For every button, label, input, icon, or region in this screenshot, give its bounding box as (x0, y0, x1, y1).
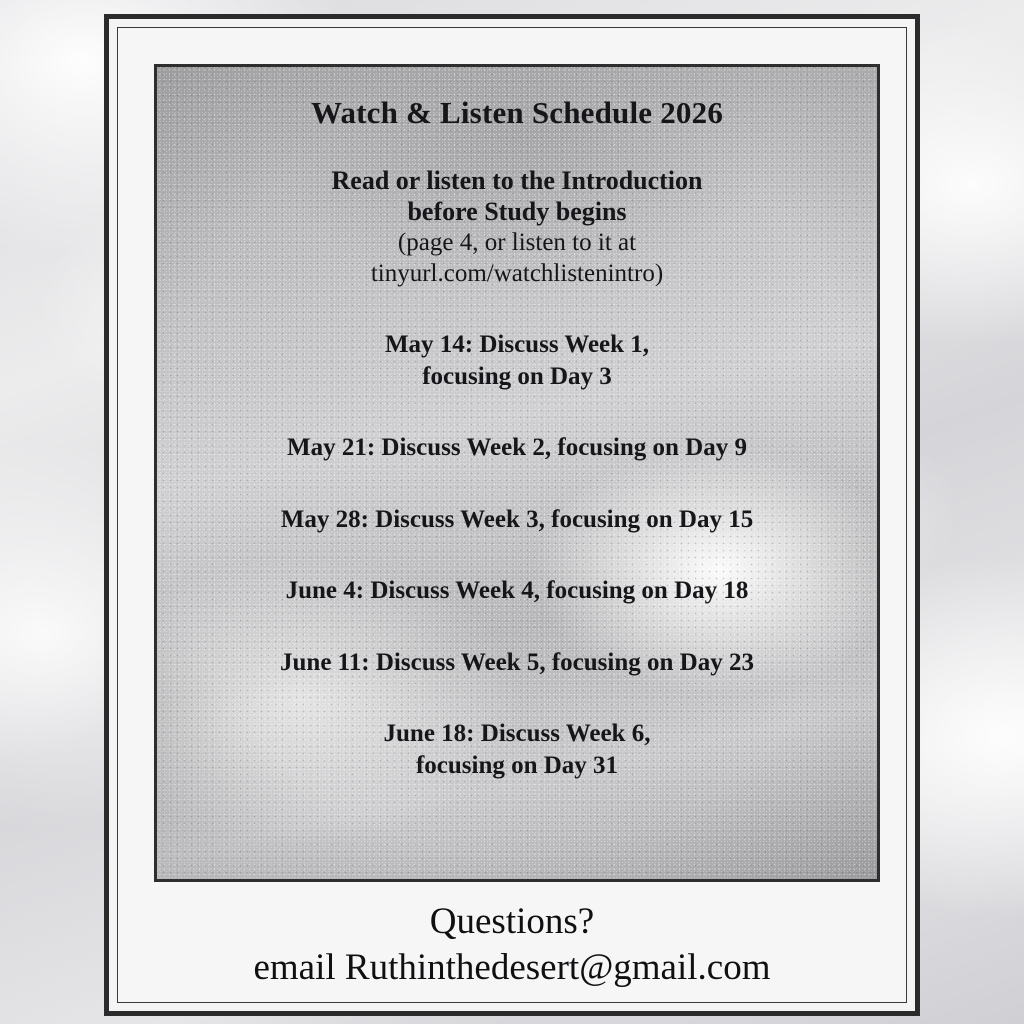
schedule-entry-line-1: June 18: Discuss Week 6, (183, 718, 851, 750)
intro-instructions: Read or listen to the Introduction befor… (183, 165, 851, 289)
intro-line-2: before Study begins (183, 196, 851, 228)
schedule-entry: May 14: Discuss Week 1, focusing on Day … (183, 329, 851, 392)
schedule-entry-line-2: focusing on Day 31 (183, 750, 851, 782)
schedule-entry-line-1: June 4: Discuss Week 4, focusing on Day … (183, 575, 851, 607)
schedule-entry: June 4: Discuss Week 4, focusing on Day … (183, 575, 851, 607)
poster-frame: Watch & Listen Schedule 2026 Read or lis… (104, 14, 920, 1016)
schedule-entry: May 21: Discuss Week 2, focusing on Day … (183, 432, 851, 464)
poster-background: Watch & Listen Schedule 2026 Read or lis… (0, 0, 1024, 1024)
poster-footer: Questions? email Ruthinthedesert@gmail.c… (118, 900, 906, 990)
schedule-entry: June 18: Discuss Week 6, focusing on Day… (183, 718, 851, 781)
schedule-entry: May 28: Discuss Week 3, focusing on Day … (183, 504, 851, 536)
poster-inner-border: Watch & Listen Schedule 2026 Read or lis… (117, 27, 907, 1003)
page-title: Watch & Listen Schedule 2026 (183, 95, 851, 131)
intro-line-3: (page 4, or listen to it at (183, 228, 851, 259)
poster-content: Watch & Listen Schedule 2026 Read or lis… (157, 67, 877, 781)
textured-image-panel: Watch & Listen Schedule 2026 Read or lis… (154, 64, 880, 882)
schedule-entry-line-1: May 21: Discuss Week 2, focusing on Day … (183, 432, 851, 464)
questions-heading: Questions? (118, 900, 906, 944)
intro-line-1: Read or listen to the Introduction (183, 165, 851, 197)
schedule-entry-line-1: May 14: Discuss Week 1, (183, 329, 851, 361)
contact-email: email Ruthinthedesert@gmail.com (118, 946, 906, 990)
schedule-entry: June 11: Discuss Week 5, focusing on Day… (183, 647, 851, 679)
schedule-entry-line-1: May 28: Discuss Week 3, focusing on Day … (183, 504, 851, 536)
intro-line-4: tinyurl.com/watchlistenintro) (183, 259, 851, 290)
schedule-entry-line-1: June 11: Discuss Week 5, focusing on Day… (183, 647, 851, 679)
schedule-entry-line-2: focusing on Day 3 (183, 361, 851, 393)
